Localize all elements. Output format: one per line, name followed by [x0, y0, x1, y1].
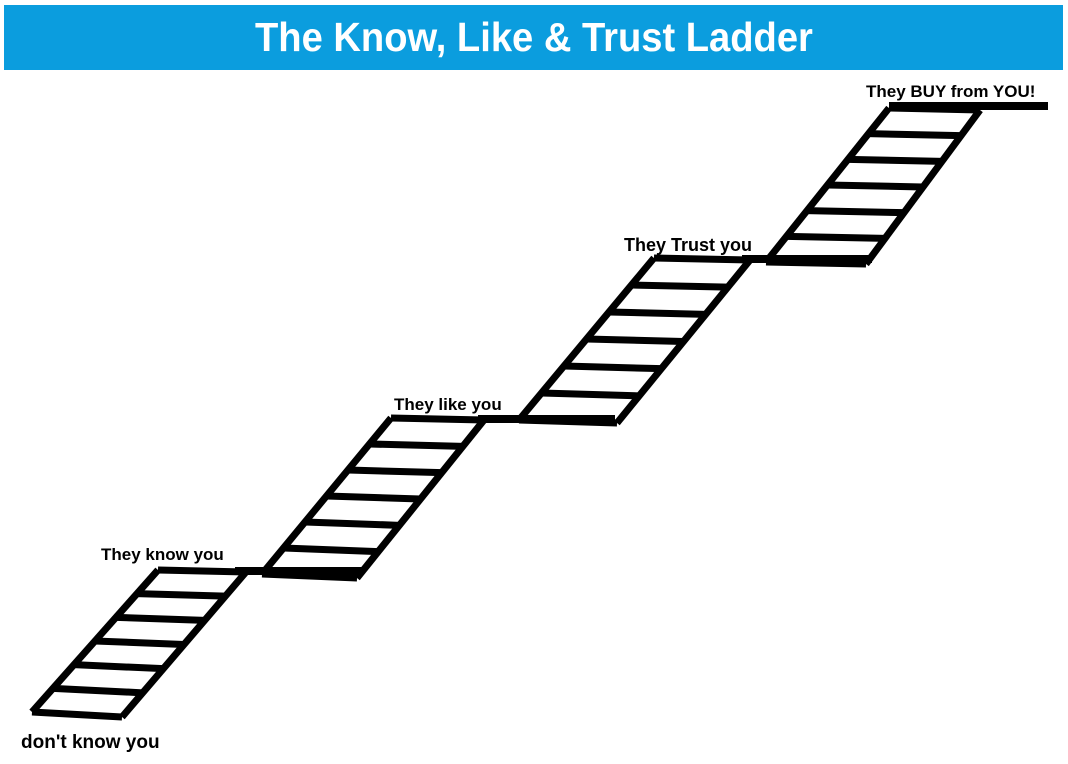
ladder-diagram — [0, 0, 1068, 764]
ladder-4-rung-1 — [766, 262, 866, 264]
ladder-3-rung-1 — [519, 420, 617, 423]
label-dont-know-you: don't know you — [21, 733, 160, 752]
ladders-group — [32, 106, 1048, 717]
ladder-2-rung-1 — [262, 574, 357, 578]
ladder-4-rung-3 — [807, 211, 904, 213]
ladder-2-rung-7 — [391, 418, 484, 420]
ladder-3-rung-6 — [632, 285, 728, 287]
ladder-2-rung-3 — [305, 522, 399, 525]
ladder-1-rung-1 — [32, 712, 122, 717]
ladder-4-rung-5 — [848, 159, 942, 161]
ladder-3-rung-7 — [654, 258, 750, 260]
ladder-4-rung-4 — [828, 185, 924, 187]
ladder-2-rung-2 — [284, 548, 379, 552]
ladder-1-rung-3 — [74, 665, 163, 669]
ladder-1-rung-5 — [116, 617, 205, 620]
ladder-2-rung-4 — [327, 496, 421, 499]
ladder-4-rung-6 — [869, 134, 962, 136]
ladder-3-rung-2 — [542, 393, 640, 396]
ladder-1-rung-6 — [137, 594, 225, 597]
label-they-know-you: They know you — [101, 546, 224, 563]
ladder-3-rung-3 — [564, 366, 661, 369]
label-they-like-you: They like you — [394, 396, 502, 413]
ladder-1-rung-4 — [95, 641, 184, 645]
ladder-1-rung-2 — [53, 688, 143, 693]
diagram-canvas: The Know, Like & Trust Ladder They BUY f… — [0, 0, 1068, 764]
label-they-trust-you: They Trust you — [624, 236, 752, 254]
ladder-4-rung-2 — [787, 236, 886, 238]
label-they-buy-from-you: They BUY from YOU! — [866, 83, 1035, 100]
ladder-2-rung-6 — [370, 444, 463, 446]
ladder-2-rung-5 — [348, 470, 442, 473]
ladder-3-rung-4 — [587, 339, 684, 342]
ladder-3-rung-5 — [609, 312, 706, 314]
ladder-1-rung-7 — [158, 570, 246, 572]
